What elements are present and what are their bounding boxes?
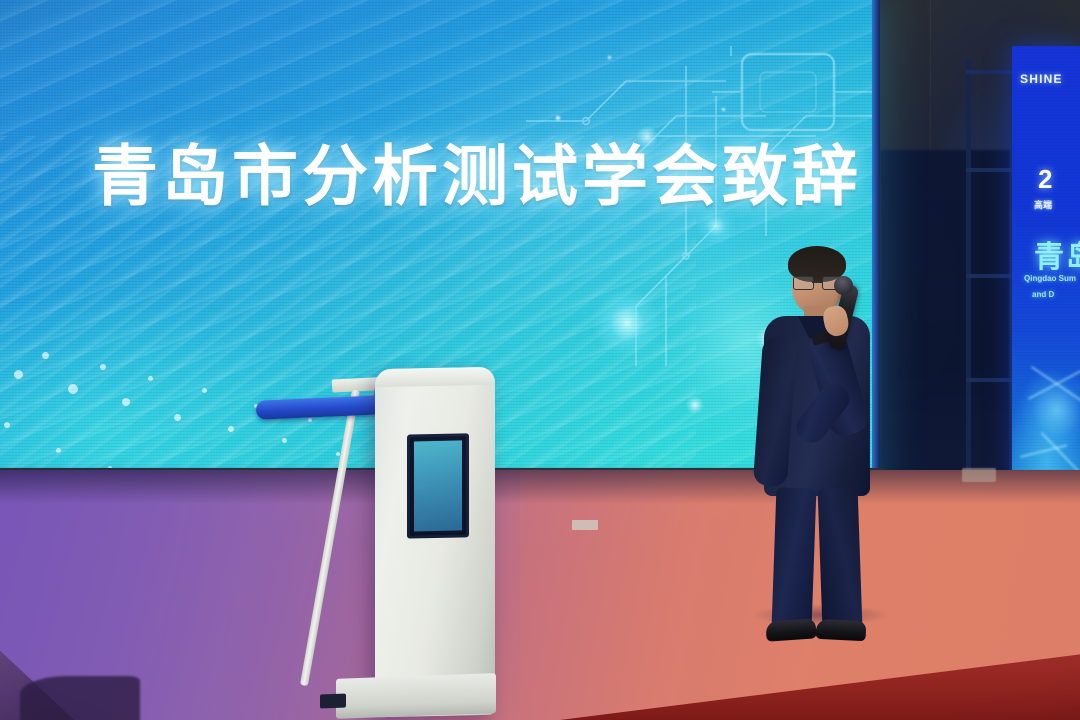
stage-floor-shadow bbox=[0, 470, 1080, 504]
side-banner-screen: SHINE 2 高端 青岛 Qingdao Sum and D bbox=[1012, 46, 1080, 498]
banner-headline: 青岛 bbox=[1034, 232, 1080, 276]
speaker-left-leg bbox=[772, 487, 817, 628]
stage-truss bbox=[966, 60, 1016, 510]
screen-headline: 青岛市分析测试学会致辞 bbox=[92, 142, 862, 212]
podium-top-surface bbox=[375, 367, 495, 388]
banner-subtitle: 高端 bbox=[1034, 198, 1080, 211]
banner-english-line-1: Qingdao Sum bbox=[1024, 274, 1080, 283]
podium-base-label bbox=[320, 694, 346, 709]
banner-english-line-2: and D bbox=[1032, 290, 1080, 299]
podium-display-panel bbox=[407, 433, 469, 538]
stage-photo-scene: 青岛市分析测试学会致辞 SHINE 2 高端 青岛 Qingdao Sum an… bbox=[0, 0, 1080, 720]
podium bbox=[375, 367, 495, 718]
speaker-right-leg bbox=[818, 487, 863, 628]
banner-logo: SHINE bbox=[1020, 72, 1063, 86]
speaker-legs bbox=[770, 488, 866, 634]
speaker-left-shoe bbox=[765, 618, 816, 641]
floor-prop bbox=[962, 468, 996, 482]
speaker-right-shoe bbox=[816, 619, 867, 642]
podium-base bbox=[336, 673, 496, 719]
speaker bbox=[740, 240, 910, 640]
floor-prop bbox=[572, 520, 598, 530]
banner-year: 2 bbox=[1038, 164, 1080, 195]
stage-step-edge bbox=[20, 676, 140, 720]
